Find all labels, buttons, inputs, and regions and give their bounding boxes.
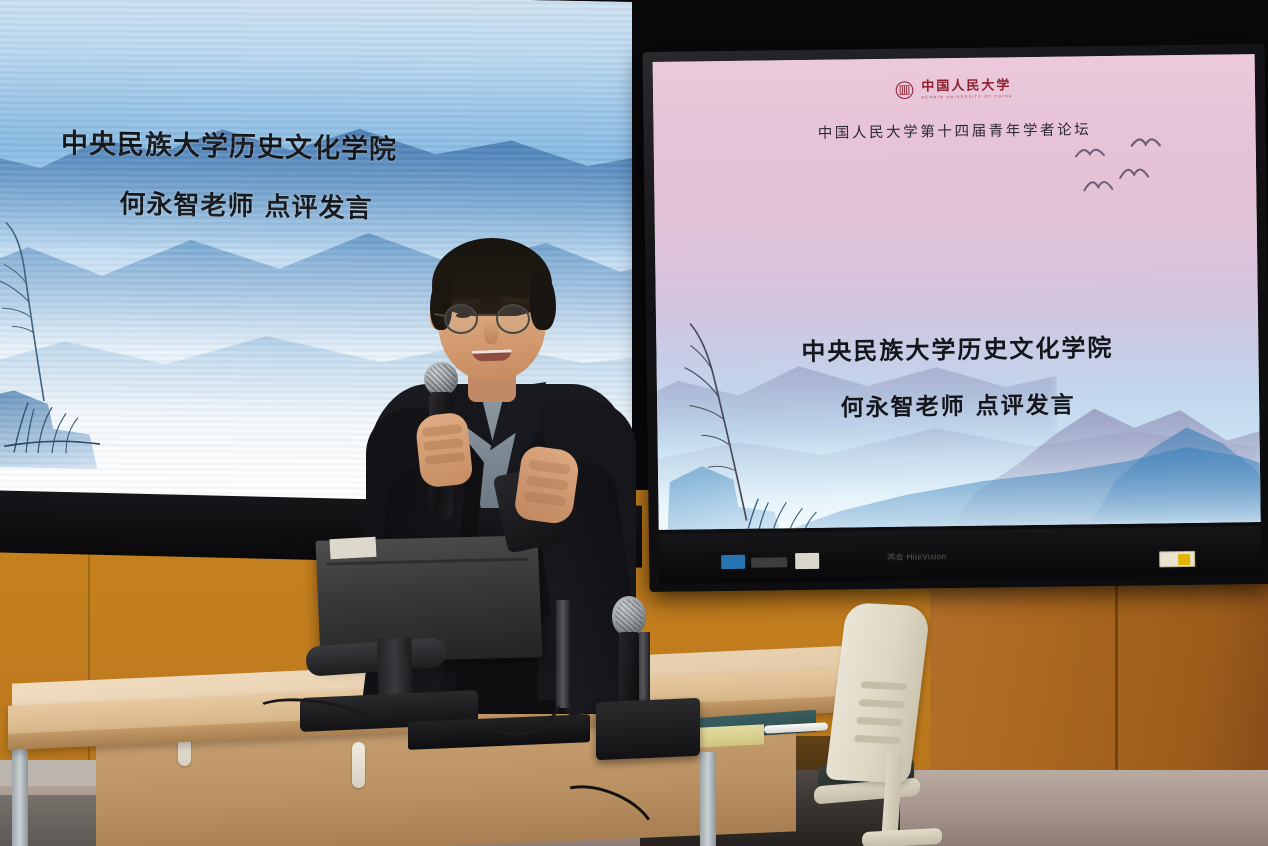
display-brand-label: 鸿合 HiteVision [887, 551, 946, 563]
logo-english-name: RENMIN UNIVERSITY OF CHINA [921, 95, 1012, 100]
desk-paper[interactable] [698, 724, 764, 747]
display-asset-label [1159, 551, 1195, 567]
led-display[interactable]: 中国人民大学 RENMIN UNIVERSITY OF CHINA 中国人民大学… [642, 44, 1268, 592]
monitor-vent [326, 558, 528, 566]
presenter-hand-right [513, 444, 581, 525]
ink-branch-icon [0, 220, 74, 402]
university-logo: 中国人民大学 RENMIN UNIVERSITY OF CHINA [653, 76, 1255, 103]
slide-main-line1: 中央民族大学历史文化学院 [656, 326, 1258, 369]
microphone-base [596, 698, 700, 761]
logo-chinese-name: 中国人民大学 [921, 79, 1012, 93]
display-panel: 中国人民大学 RENMIN UNIVERSITY OF CHINA 中国人民大学… [653, 54, 1261, 530]
chair-backrest [825, 602, 931, 784]
office-chair[interactable] [822, 604, 982, 846]
eyeglass-lens-left [444, 304, 478, 334]
presenter-hand-left [414, 411, 473, 488]
display-bottom-bezel: 鸿合 HiteVision [659, 526, 1262, 584]
eyeglass-bridge [478, 314, 496, 316]
left-screen-line1: 中央民族大学历史文化学院 [0, 120, 464, 168]
display-port-blue[interactable] [721, 555, 745, 569]
presenter-nose [484, 320, 498, 344]
ink-grass-icon [4, 382, 124, 454]
desk-leg [700, 752, 716, 846]
monitor-asset-label [330, 537, 377, 559]
flying-birds-icon [1072, 133, 1183, 204]
chair-foot [862, 828, 942, 846]
eyeglass-lens-right [496, 304, 530, 334]
university-seal-icon [895, 81, 914, 100]
desk-microphone-head [612, 596, 646, 636]
microphone-head [424, 362, 458, 396]
left-screen-text: 中央民族大学历史文化学院 何永智老师 点评发言 [0, 120, 464, 227]
slide-grass-icon [736, 479, 847, 529]
photo-scene: 中央民族大学历史文化学院 何永智老师 点评发言 [0, 0, 1268, 846]
desk-microphone-body [619, 632, 639, 704]
display-port-white[interactable] [795, 553, 819, 569]
desk-leg [12, 740, 28, 846]
display-port-grey[interactable] [751, 557, 787, 567]
desk-handle[interactable] [352, 742, 365, 788]
slide-main-text: 中央民族大学历史文化学院 何永智老师 点评发言 [656, 326, 1259, 425]
gooseneck-microphone[interactable] [612, 596, 646, 706]
presentation-slide: 中国人民大学 RENMIN UNIVERSITY OF CHINA 中国人民大学… [653, 54, 1261, 530]
